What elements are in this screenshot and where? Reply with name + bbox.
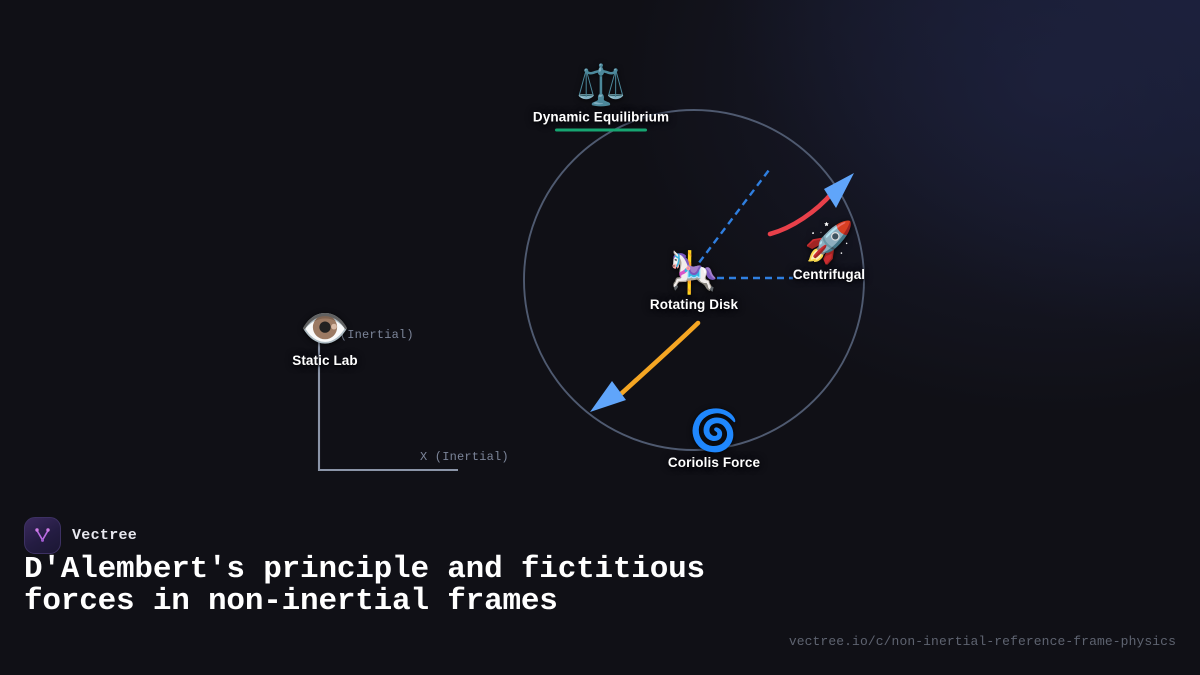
- node-dynamic-equilibrium[interactable]: ⚖️ Dynamic Equilibrium: [496, 65, 706, 132]
- node-centrifugal[interactable]: 🚀 Centrifugal: [724, 222, 934, 282]
- node-static-lab[interactable]: 👁️ Static Lab: [220, 308, 430, 368]
- node-accent-bar: [555, 129, 647, 132]
- node-coriolis-force[interactable]: 🌀 Coriolis Force: [609, 410, 819, 470]
- eye-icon: 👁️: [300, 308, 350, 352]
- node-label-coriolis-force: Coriolis Force: [668, 455, 760, 470]
- node-label-rotating-disk: Rotating Disk: [650, 297, 738, 312]
- centrifugal-arrowhead-icon: [824, 173, 854, 208]
- node-label-dynamic-equilibrium: Dynamic Equilibrium: [533, 110, 669, 125]
- balance-scale-icon: ⚖️: [576, 65, 626, 109]
- footer-bar: Vectree D'Alembert's principle and ficti…: [0, 500, 1200, 675]
- coriolis-arrowhead-icon: [590, 381, 626, 412]
- node-label-static-lab: Static Lab: [292, 353, 358, 368]
- vectree-v-logo-icon: [24, 517, 61, 554]
- cyclone-icon: 🌀: [689, 410, 739, 454]
- page-title: D'Alembert's principle and fictitious fo…: [24, 554, 764, 618]
- node-label-centrifugal: Centrifugal: [793, 267, 865, 282]
- brand-row: Vectree: [24, 517, 137, 554]
- x-axis-label: X (Inertial): [420, 450, 509, 464]
- rocket-icon: 🚀: [804, 222, 854, 266]
- screenshot-canvas: Y (Inertial) X (Inertial) ⚖️ Dynamic Equ…: [0, 0, 1200, 675]
- brand-name: Vectree: [72, 527, 137, 544]
- physics-diagram: Y (Inertial) X (Inertial) ⚖️ Dynamic Equ…: [0, 0, 1200, 500]
- carousel-horse-icon: 🎠: [669, 252, 719, 296]
- footer-url: vectree.io/c/non-inertial-reference-fram…: [789, 634, 1176, 649]
- coriolis-force-arrow: [622, 323, 698, 393]
